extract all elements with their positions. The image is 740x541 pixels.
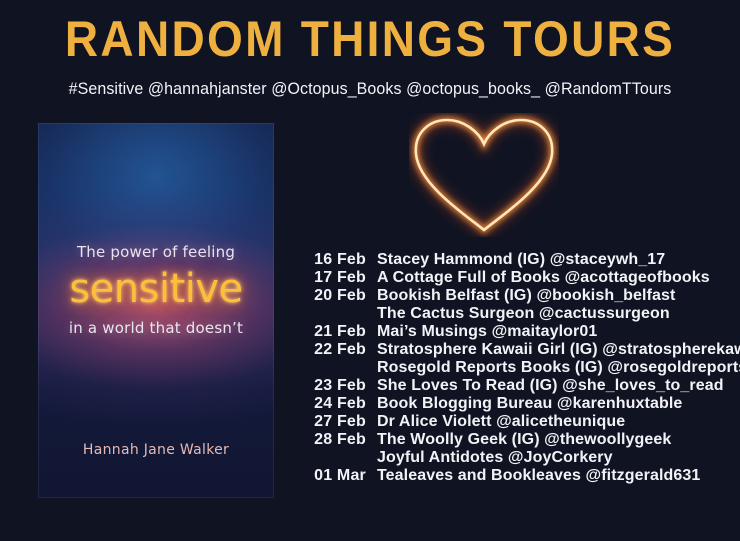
schedule-blogger: Bookish Belfast (IG) @bookish_belfast	[366, 287, 675, 305]
schedule-blogger: The Woolly Geek (IG) @thewoollygeek	[366, 431, 671, 449]
schedule-date: 23 Feb	[312, 377, 366, 395]
schedule-date: 22 Feb	[312, 341, 366, 359]
book-cover-text: The power of feeling sensitive in a worl…	[38, 242, 274, 338]
social-handles-line: #Sensitive @hannahjanster @Octopus_Books…	[22, 78, 718, 100]
schedule-date: 16 Feb	[312, 251, 366, 269]
schedule-row: 23 FebShe Loves To Read (IG) @she_loves_…	[312, 377, 732, 395]
book-author: Hannah Jane Walker	[38, 442, 274, 458]
schedule-blogger: Tealeaves and Bookleaves @fitzgerald631	[366, 467, 700, 485]
schedule-blogger: Rosegold Reports Books (IG) @rosegoldrep…	[366, 359, 740, 377]
schedule-row: 24 Feb Book Blogging Bureau @karenhuxtab…	[312, 395, 732, 413]
schedule-row: 17 FebA Cottage Full of Books @acottageo…	[312, 269, 732, 287]
schedule-blogger: The Cactus Surgeon @cactussurgeon	[366, 305, 670, 323]
schedule-row: 28 FebThe Woolly Geek (IG) @thewoollygee…	[312, 431, 732, 449]
schedule-row: 22 FebStratosphere Kawaii Girl (IG) @str…	[312, 341, 732, 359]
schedule-row: The Cactus Surgeon @cactussurgeon	[312, 305, 732, 323]
schedule-blogger: She Loves To Read (IG) @she_loves_to_rea…	[366, 377, 724, 395]
schedule-row: 20 Feb Bookish Belfast (IG) @bookish_bel…	[312, 287, 732, 305]
schedule-blogger: Stratosphere Kawaii Girl (IG) @stratosph…	[366, 341, 740, 359]
schedule-blogger: A Cottage Full of Books @acottageofbooks	[366, 269, 710, 287]
schedule-date: 21 Feb	[312, 323, 366, 341]
book-subtitle-bottom: in a world that doesn’t	[38, 318, 274, 338]
schedule-date: 28 Feb	[312, 431, 366, 449]
schedule-blogger: Dr Alice Violett @alicetheunique	[366, 413, 625, 431]
schedule-row: 16 FebStacey Hammond (IG) @staceywh_17	[312, 251, 732, 269]
schedule-row: Rosegold Reports Books (IG) @rosegoldrep…	[312, 359, 732, 377]
book-title: sensitive	[38, 266, 274, 312]
page-title: RANDOM THINGS TOURS	[30, 10, 711, 68]
tour-poster: RANDOM THINGS TOURS #Sensitive @hannahja…	[0, 0, 740, 541]
book-subtitle-top: The power of feeling	[38, 242, 274, 262]
schedule-date: 17 Feb	[312, 269, 366, 287]
schedule-blogger: Book Blogging Bureau @karenhuxtable	[366, 395, 682, 413]
schedule-date: 27 Feb	[312, 413, 366, 431]
schedule-blogger: Mai’s Musings @maitaylor01	[366, 323, 597, 341]
schedule-row: 01 MarTealeaves and Bookleaves @fitzgera…	[312, 467, 732, 485]
schedule-row: 27 FebDr Alice Violett @alicetheunique	[312, 413, 732, 431]
book-cover: The power of feeling sensitive in a worl…	[38, 123, 274, 498]
tour-schedule-list: 16 FebStacey Hammond (IG) @staceywh_1717…	[312, 251, 732, 485]
schedule-row: Joyful Antidotes @JoyCorkery	[312, 449, 732, 467]
schedule-date: 24 Feb	[312, 395, 366, 413]
schedule-date: 20 Feb	[312, 287, 366, 305]
schedule-blogger: Stacey Hammond (IG) @staceywh_17	[366, 251, 665, 269]
schedule-row: 21 FebMai’s Musings @maitaylor01	[312, 323, 732, 341]
schedule-blogger: Joyful Antidotes @JoyCorkery	[366, 449, 613, 467]
schedule-date: 01 Mar	[312, 467, 366, 485]
heart-icon	[409, 113, 559, 237]
